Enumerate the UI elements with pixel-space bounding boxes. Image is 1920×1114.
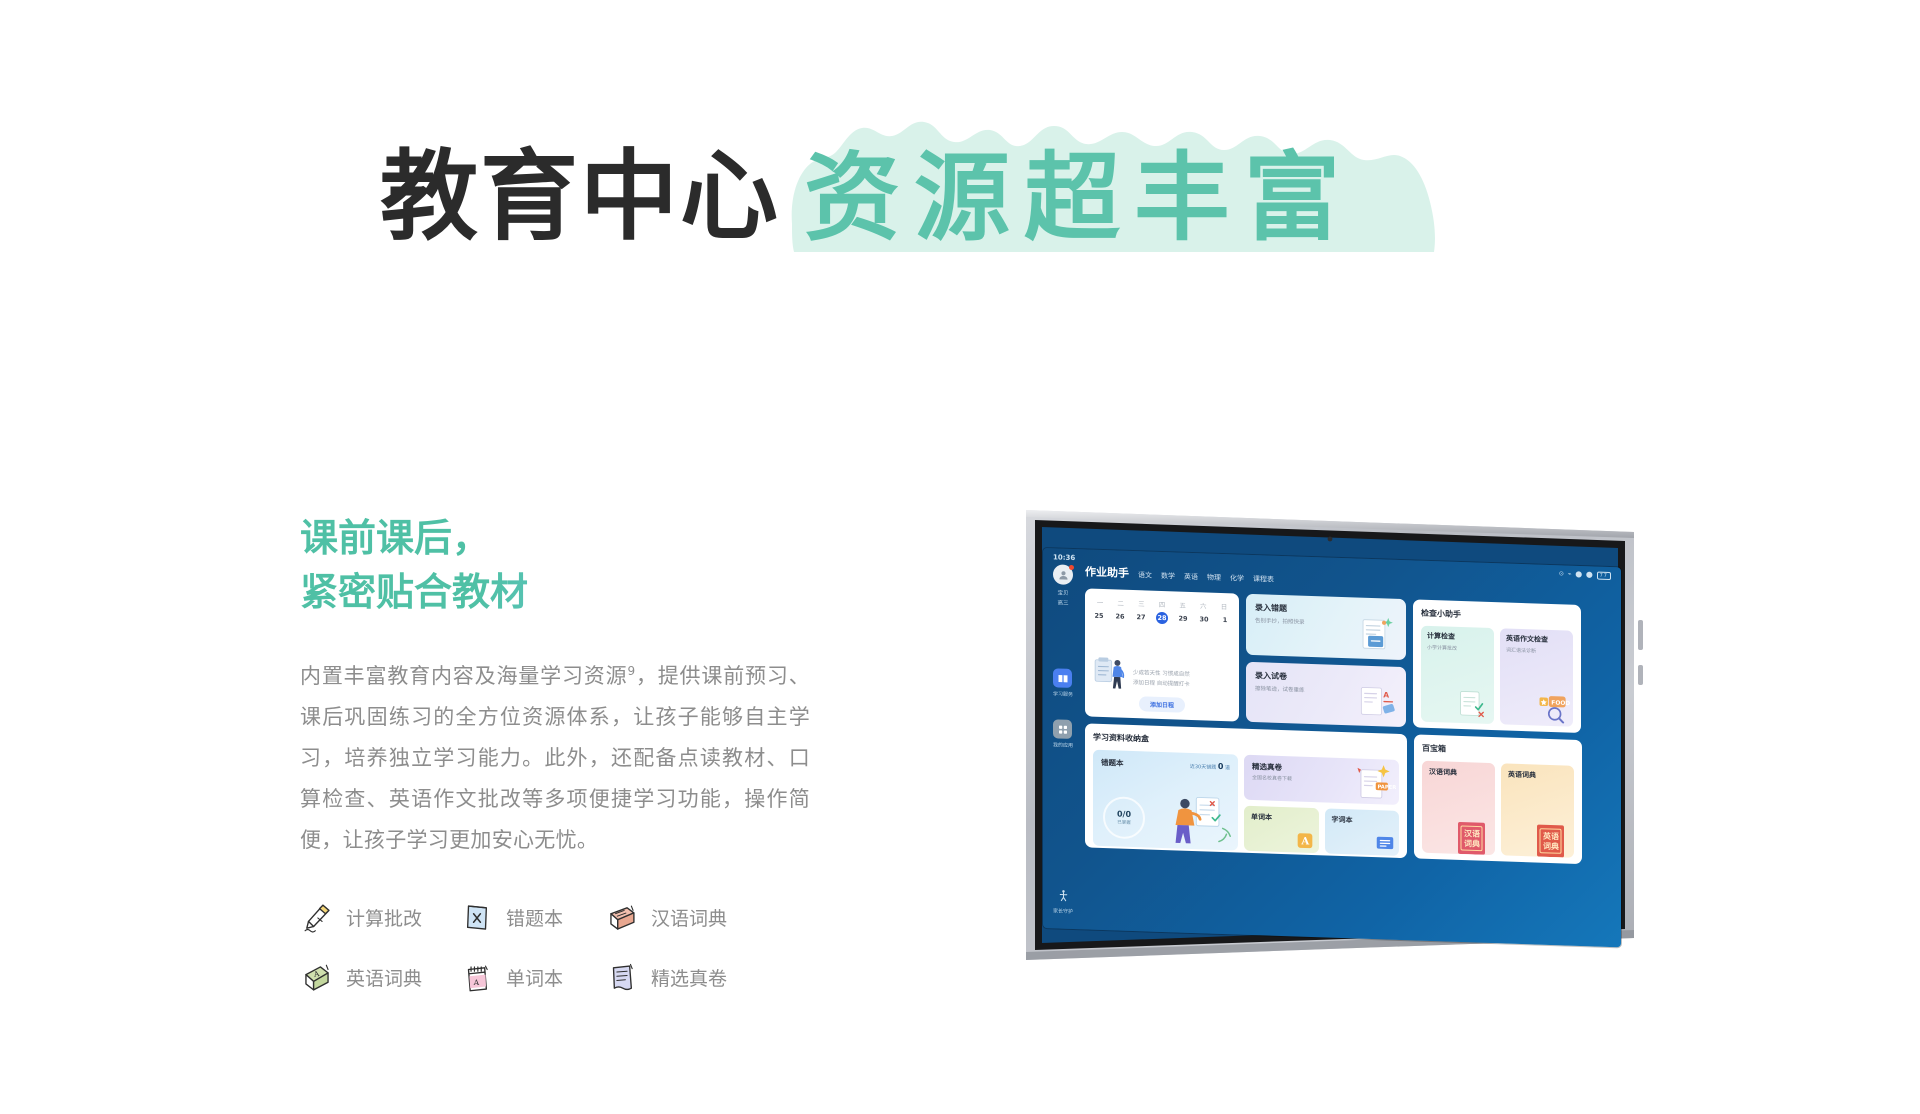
- card-title: 单词本: [1251, 812, 1312, 824]
- english-dictionary-icon: A: [300, 961, 334, 995]
- card-title: 计算检查: [1427, 632, 1488, 643]
- ring-value: 0/0: [1117, 809, 1131, 818]
- mastery-ring: 0/0 已掌握: [1103, 796, 1145, 839]
- tab-chemistry[interactable]: 化学: [1230, 573, 1244, 583]
- exam-paper-icon: [605, 961, 639, 995]
- svg-text:汉语: 汉语: [1464, 828, 1480, 839]
- copy-block: 课前课后， 紧密贴合教材 内置丰富教育内容及海量学习资源9，提供课前预习、课后巩…: [300, 512, 820, 995]
- storage-card-row: 错题本 近30天错题 0 道 0/0 已掌握: [1093, 750, 1399, 856]
- section-subtitle: 课前课后， 紧密贴合教材: [300, 512, 820, 620]
- chinese-dictionary-book-icon: 汉语 词典: [1455, 812, 1489, 855]
- feature-item-calc-correction[interactable]: 计算批改: [300, 901, 460, 935]
- feature-list: 计算批改 错题本: [300, 901, 820, 995]
- notification-dot: [1069, 565, 1074, 570]
- svg-text:英语: 英语: [1542, 831, 1559, 842]
- card-title: 英语作文检查: [1506, 635, 1567, 646]
- tab-math[interactable]: 数学: [1161, 571, 1175, 581]
- wrong-book-stat: 近30天错题 0 道: [1190, 761, 1230, 771]
- card-title: 错题本: [1101, 757, 1124, 769]
- svg-text:FOOD: FOOD: [1551, 701, 1570, 708]
- calendar-date[interactable]: 30: [1198, 615, 1210, 625]
- pencil-correct-icon: [300, 901, 334, 935]
- exam-paper-illustration: PAPER: [1352, 762, 1396, 803]
- feature-label: 汉语词典: [651, 904, 727, 931]
- storage-right-column: 精选真卷 全国名校真卷下载 PAPER: [1244, 755, 1399, 856]
- tab-physics[interactable]: 物理: [1207, 572, 1221, 582]
- stat-value: 0: [1218, 762, 1224, 771]
- treasure-box-panel: 百宝箱 汉语词典 汉语 词典 英语词典: [1414, 734, 1582, 864]
- card-title: 英语词典: [1508, 770, 1567, 782]
- feature-label: 错题本: [506, 904, 563, 931]
- character-book-card[interactable]: 字词本: [1325, 808, 1400, 855]
- tablet-sidebar: 宝贝 高三 学习服务: [1043, 548, 1083, 929]
- entry-card-column: 录入错题 告别手抄，拍照快录 录入试卷 擦除笔迹，试: [1246, 594, 1406, 727]
- calendar-note-line-2: 添加日程 自动提醒打卡: [1133, 679, 1190, 690]
- feature-item-selected-papers[interactable]: 精选真卷: [605, 961, 765, 995]
- feature-label: 英语词典: [346, 964, 422, 991]
- document-photo-illustration: [1358, 614, 1400, 655]
- english-essay-check-card[interactable]: 英语作文检查 词汇语法诊断 FOOD: [1500, 628, 1573, 726]
- feature-item-wrong-book[interactable]: 错题本: [460, 901, 605, 935]
- wrong-book-header: 错题本 近30天错题 0 道: [1101, 757, 1230, 772]
- chinese-dictionary-icon: [605, 901, 639, 935]
- card-title: 字词本: [1332, 815, 1393, 827]
- vocabulary-notebook-icon: A: [460, 961, 494, 995]
- calendar-dates: 25 26 27 28 29 30 1: [1092, 612, 1232, 626]
- bottom-card-row: 学习资料收纳盒 错题本 近30天错题 0 道: [1085, 723, 1611, 865]
- sidebar-user-name: 宝贝: [1057, 588, 1068, 596]
- vocabulary-icon: A: [1294, 828, 1316, 851]
- selected-exam-paper-card[interactable]: 精选真卷 全国名校真卷下载 PAPER: [1244, 755, 1399, 805]
- vocabulary-book-card[interactable]: 单词本 A: [1244, 806, 1319, 853]
- calendar-weekdays: 一 二 三 四 五 六 日: [1092, 597, 1232, 612]
- body-text-before: 内置丰富教育内容及海量学习资源: [300, 664, 627, 688]
- top-card-row: 一 二 三 四 五 六 日 25 26 27 28 29 30: [1085, 588, 1611, 734]
- feature-item-chinese-dictionary[interactable]: 汉语词典: [605, 901, 765, 935]
- tablet-screen: 10:36 ⊙ ⌁ ⬤ ⬤ 77 宝贝 高三: [1043, 548, 1621, 947]
- paper-eraser-illustration: A: [1358, 682, 1400, 723]
- sidebar-item-guardian[interactable]: 家长守护: [1043, 886, 1083, 915]
- sidebar-item-study-service[interactable]: 学习服务: [1053, 668, 1073, 698]
- calendar-date[interactable]: 26: [1114, 612, 1126, 622]
- card-subtitle: 小学计算批改: [1427, 644, 1488, 653]
- subtitle-line-1: 课前课后，: [300, 512, 820, 566]
- headline-accent-text: 资源超丰富: [804, 142, 1354, 254]
- weekday: 日: [1218, 601, 1230, 611]
- user-icon: [1057, 568, 1070, 581]
- stat-suffix: 道: [1225, 765, 1230, 771]
- card-subtitle: 词汇语法诊断: [1506, 647, 1567, 656]
- tablet-main: 作业助手 语文 数学 英语 物理 化学 课程表 一 二 三 四 五: [1083, 549, 1621, 947]
- weekday: 一: [1094, 597, 1106, 607]
- svg-text:A: A: [473, 977, 480, 986]
- check-helper-panel: 检查小助手 计算检查 小学计算批改: [1413, 599, 1581, 733]
- feature-item-english-dictionary[interactable]: A 英语词典: [300, 961, 460, 995]
- calendar-date[interactable]: 25: [1093, 612, 1105, 622]
- tab-english[interactable]: 英语: [1184, 572, 1198, 582]
- english-dictionary-card[interactable]: 英语词典 英语 词典: [1501, 763, 1574, 857]
- calendar-date[interactable]: 27: [1135, 613, 1147, 623]
- feature-label: 单词本: [506, 964, 563, 991]
- headline-dark-text: 教育中心: [380, 148, 780, 246]
- tab-chinese[interactable]: 语文: [1138, 570, 1152, 580]
- svg-text:A: A: [1383, 690, 1389, 699]
- calendar-card[interactable]: 一 二 三 四 五 六 日 25 26 27 28 29 30: [1085, 588, 1239, 721]
- avatar[interactable]: [1053, 564, 1073, 585]
- calendar-date[interactable]: 1: [1219, 616, 1231, 626]
- wrong-question-book-icon: [460, 901, 494, 935]
- calc-check-illustration: [1457, 688, 1491, 721]
- small-card-row: 单词本 A 字词本: [1244, 806, 1399, 856]
- character-book-icon: [1374, 831, 1396, 854]
- svg-text:词典: 词典: [1464, 838, 1480, 849]
- sidebar-item-my-apps[interactable]: 我的应用: [1053, 719, 1073, 749]
- feature-label: 计算批改: [346, 904, 422, 931]
- panel-title: 检查小助手: [1421, 608, 1573, 624]
- card-title: 汉语词典: [1429, 767, 1488, 779]
- weekday: 四: [1156, 599, 1168, 609]
- panel-title: 百宝箱: [1422, 743, 1574, 759]
- calendar-date[interactable]: 29: [1177, 614, 1189, 624]
- calendar-note: 少成若天性 习惯成自然 添加日程 自动提醒打卡: [1133, 669, 1190, 690]
- english-dictionary-book-icon: 英语 词典: [1534, 814, 1568, 857]
- add-schedule-button[interactable]: 添加日程: [1139, 696, 1185, 713]
- subtitle-line-2: 紧密贴合教材: [300, 566, 820, 620]
- student-illustration: [1168, 788, 1234, 848]
- enter-wrong-question-card[interactable]: 录入错题 告别手抄，拍照快录: [1246, 594, 1406, 660]
- book-icon: [1053, 668, 1072, 688]
- sidebar-user-grade: 高三: [1057, 598, 1068, 606]
- wrong-question-book-card[interactable]: 错题本 近30天错题 0 道 0/0 已掌握: [1093, 750, 1238, 851]
- trove-card-row: 汉语词典 汉语 词典 英语词典: [1422, 761, 1574, 858]
- weekday: 五: [1177, 599, 1189, 609]
- sidebar-bottom-label: 家长守护: [1043, 907, 1083, 915]
- stat-prefix: 近30天错题: [1190, 764, 1216, 771]
- feature-item-vocabulary-book[interactable]: A 单词本: [460, 961, 605, 995]
- study-material-box-panel: 学习资料收纳盒 错题本 近30天错题 0 道: [1085, 723, 1407, 858]
- page-headline: 教育中心 资源超丰富: [380, 148, 1370, 246]
- panel-title: 学习资料收纳盒: [1093, 732, 1399, 753]
- weekday: 六: [1197, 600, 1209, 610]
- body-paragraph: 内置丰富教育内容及海量学习资源9，提供课前预习、课后巩固练习的全方位资源体系，让…: [300, 656, 810, 861]
- tab-schedule[interactable]: 课程表: [1253, 574, 1274, 585]
- sidebar-item-label: 我的应用: [1053, 741, 1073, 749]
- svg-text:PAPER: PAPER: [1377, 784, 1396, 791]
- svg-text:A: A: [1300, 836, 1309, 847]
- app-title: 作业助手: [1085, 563, 1129, 580]
- calendar-illustration: [1093, 655, 1127, 694]
- weekday: 三: [1135, 598, 1147, 608]
- body-text-after: ，提供课前预习、课后巩固练习的全方位资源体系，让孩子能够自主学习，培养独立学习能…: [300, 664, 810, 852]
- feature-label: 精选真卷: [651, 964, 727, 991]
- helper-card-row: 计算检查 小学计算批改 英语作文检查 词汇语法诊断: [1421, 626, 1573, 727]
- guardian-icon: [1057, 888, 1070, 901]
- calc-check-card[interactable]: 计算检查 小学计算批改: [1421, 626, 1494, 724]
- essay-check-illustration: FOOD: [1536, 691, 1570, 724]
- enter-exam-paper-card[interactable]: 录入试卷 擦除笔迹，试卷重练 A: [1246, 661, 1406, 727]
- promo-page: 教育中心 资源超丰富 课前课后， 紧密贴合教材 内置丰富教育内容及海量学习资源9…: [0, 0, 1920, 1114]
- calendar-date-selected[interactable]: 28: [1156, 611, 1168, 623]
- svg-text:词典: 词典: [1543, 841, 1559, 852]
- headline-accent-wrap: 资源超丰富: [788, 150, 1370, 246]
- apps-grid-icon: [1053, 719, 1072, 739]
- chinese-dictionary-card[interactable]: 汉语词典 汉语 词典: [1422, 761, 1495, 855]
- ring-caption: 已掌握: [1117, 819, 1131, 825]
- sidebar-item-label: 学习服务: [1053, 690, 1073, 698]
- weekday: 二: [1115, 597, 1127, 607]
